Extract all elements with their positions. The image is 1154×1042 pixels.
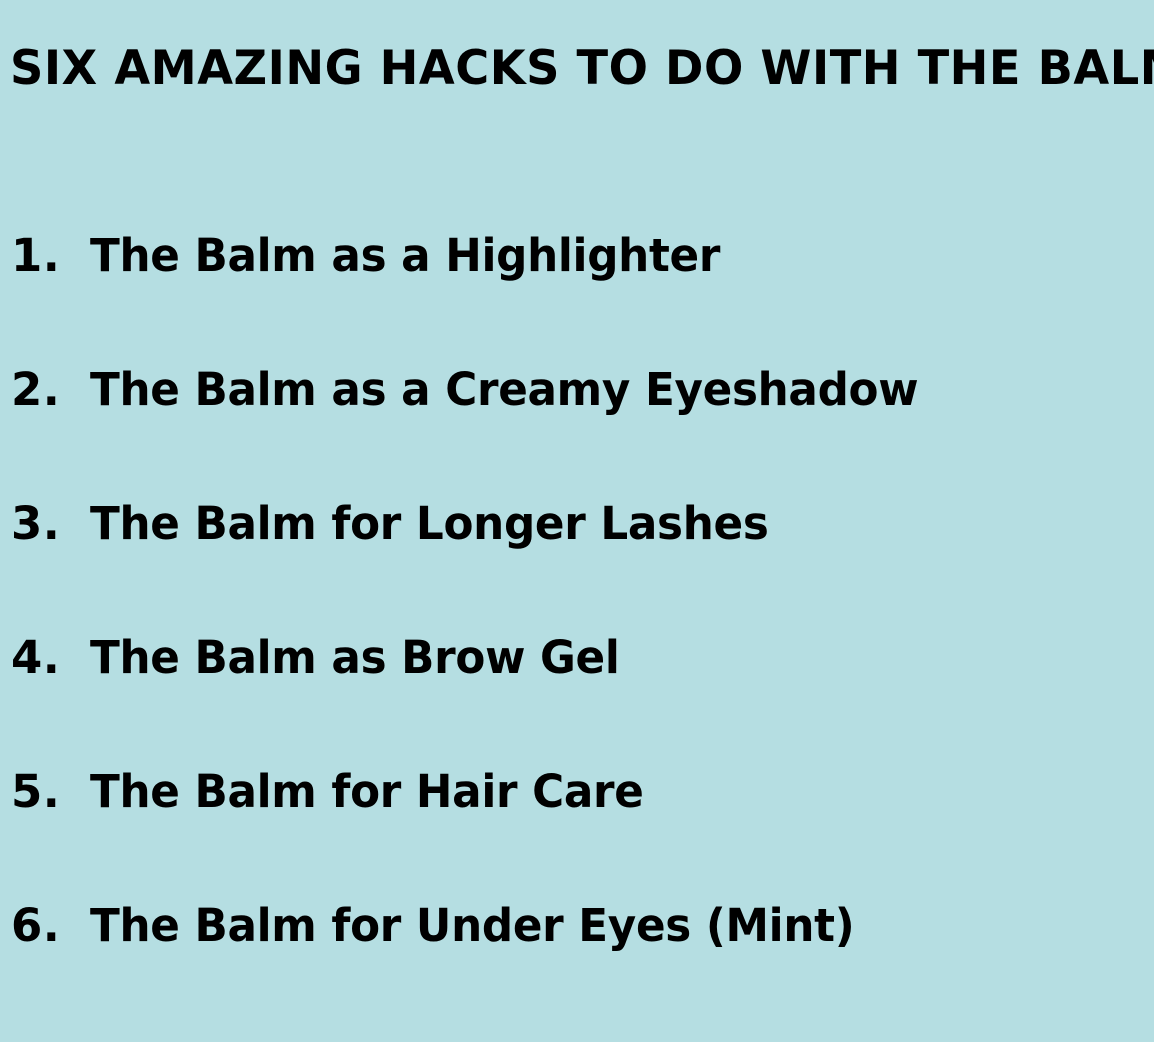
list-item-label: The Balm for Hair Care — [90, 758, 644, 826]
list-item-label: The Balm as Brow Gel — [90, 624, 620, 692]
list-item: 3. The Balm for Longer Lashes — [0, 490, 1154, 624]
list-item-label: The Balm as a Highlighter — [90, 222, 720, 290]
list-item: 5. The Balm for Hair Care — [0, 758, 1154, 892]
hacks-list: 1. The Balm as a Highlighter 2. The Balm… — [0, 222, 1154, 1026]
list-item-label: The Balm for Longer Lashes — [90, 490, 769, 558]
list-item-label: The Balm for Under Eyes (Mint) — [90, 892, 854, 960]
list-item-number: 5. — [0, 758, 90, 826]
list-item-number: 1. — [0, 222, 90, 290]
list-item-number: 3. — [0, 490, 90, 558]
list-item: 6. The Balm for Under Eyes (Mint) — [0, 892, 1154, 1026]
list-item-number: 6. — [0, 892, 90, 960]
list-item: 4. The Balm as Brow Gel — [0, 624, 1154, 758]
list-item-number: 2. — [0, 356, 90, 424]
list-item-number: 4. — [0, 624, 90, 692]
list-item: 1. The Balm as a Highlighter — [0, 222, 1154, 356]
list-item: 2. The Balm as a Creamy Eyeshadow — [0, 356, 1154, 490]
page-title: SIX AMAZING HACKS TO DO WITH THE BALM: — [10, 38, 1129, 100]
list-item-label: The Balm as a Creamy Eyeshadow — [90, 356, 918, 424]
poster-canvas: SIX AMAZING HACKS TO DO WITH THE BALM: 1… — [0, 0, 1154, 1042]
